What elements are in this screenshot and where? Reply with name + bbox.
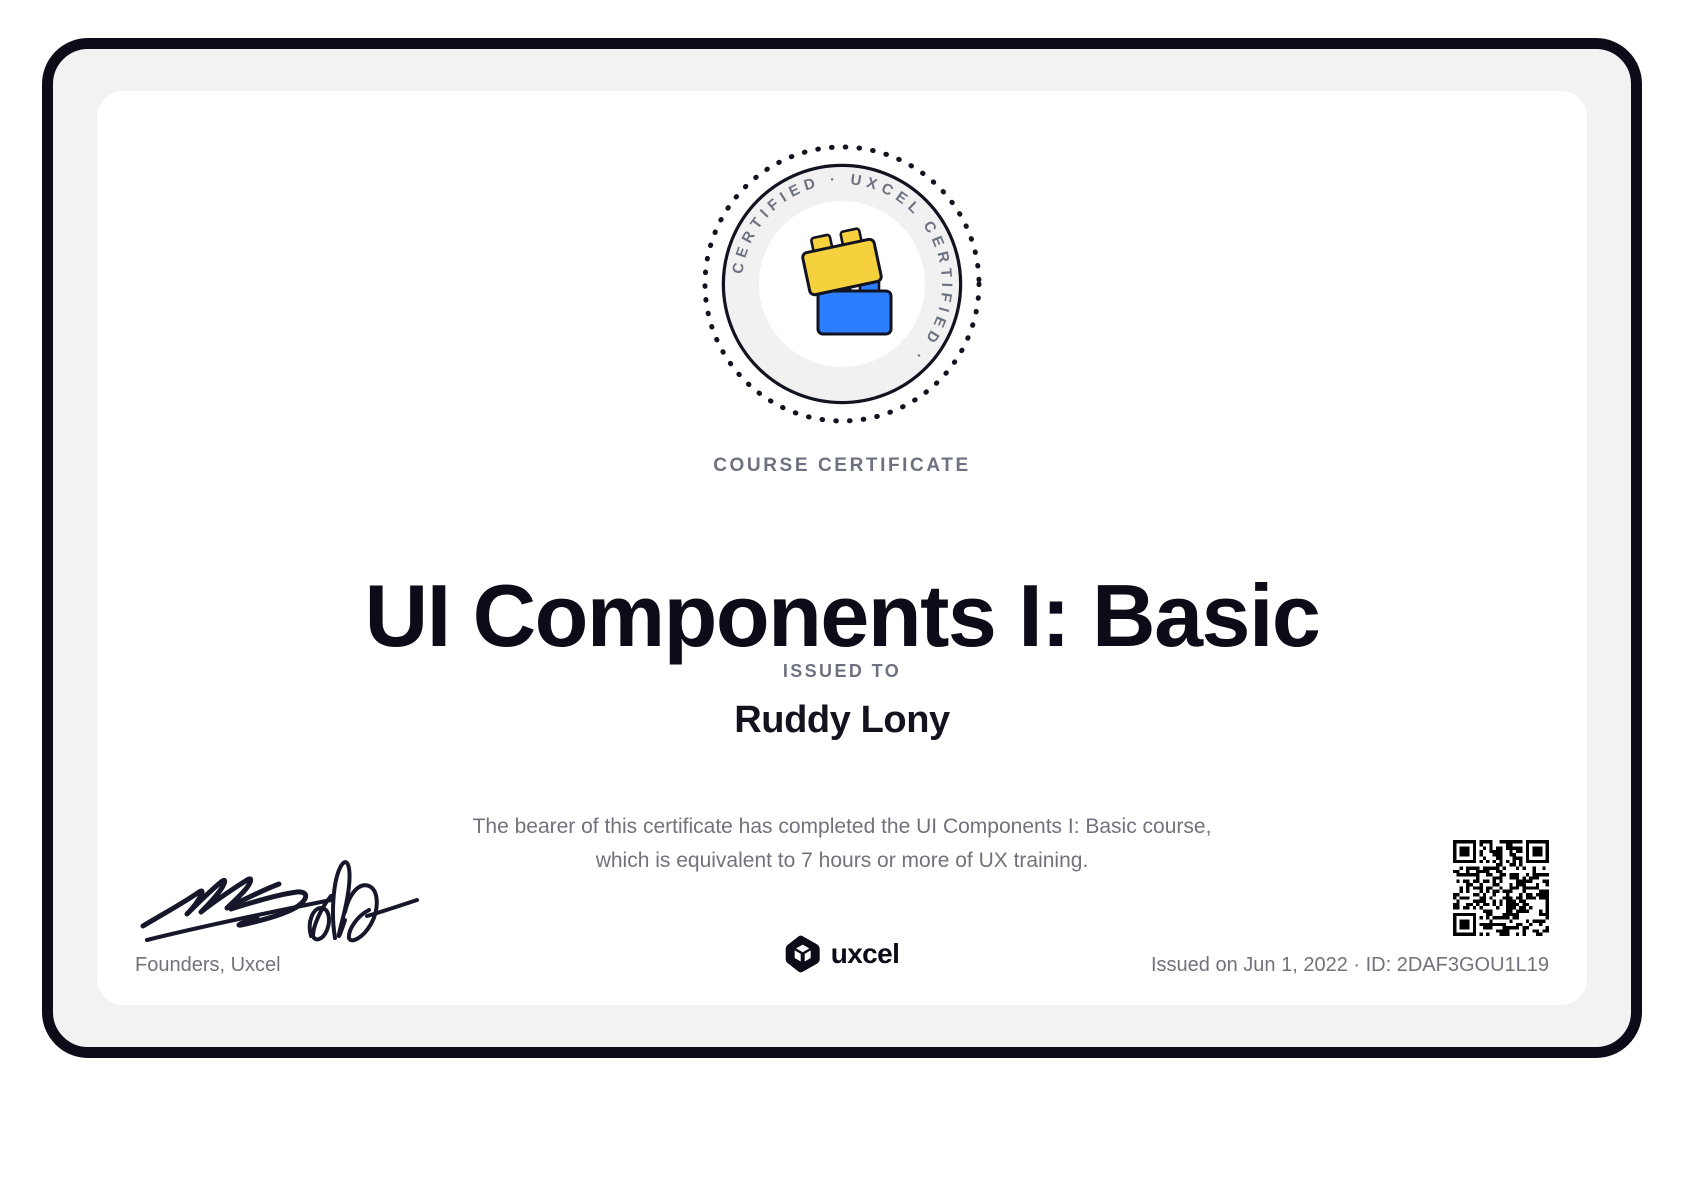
certificate-meta-block: Issued on Jun 1, 2022 · ID: 2DAF3GOU1L19 <box>1151 840 1549 977</box>
uxcel-wordmark: uxcel <box>831 938 900 970</box>
founder-signatures <box>135 852 425 944</box>
issued-to-label: ISSUED TO <box>97 661 1587 682</box>
course-certificate-kicker: COURSE CERTIFICATE <box>97 455 1587 477</box>
signature-one <box>143 879 331 940</box>
certificate-description: The bearer of this certificate has compl… <box>462 810 1222 878</box>
page-title: UI Components I: Basic <box>97 570 1587 662</box>
issued-meta-line: Issued on Jun 1, 2022 · ID: 2DAF3GOU1L19 <box>1151 954 1549 977</box>
blue-brick-body <box>818 291 891 334</box>
seal-svg: UXCEL CERTIFIED · UXCEL CERTIFIED · <box>697 139 987 429</box>
certificate-card: UXCEL CERTIFIED · UXCEL CERTIFIED · <box>97 91 1587 1005</box>
verification-qr-code[interactable] <box>1453 840 1549 936</box>
signature-caption: Founders, Uxcel <box>135 954 465 977</box>
recipient-name: Ruddy Lony <box>97 699 1587 742</box>
uxcel-brand-logo: uxcel <box>785 935 900 973</box>
uxcel-certified-seal: UXCEL CERTIFIED · UXCEL CERTIFIED · <box>697 139 987 429</box>
signature-two <box>310 862 417 940</box>
certificate-outer-frame: UXCEL CERTIFIED · UXCEL CERTIFIED · <box>42 38 1642 1058</box>
signature-block: Founders, Uxcel <box>135 852 465 977</box>
uxcel-hexagon-cube-icon <box>785 935 821 973</box>
